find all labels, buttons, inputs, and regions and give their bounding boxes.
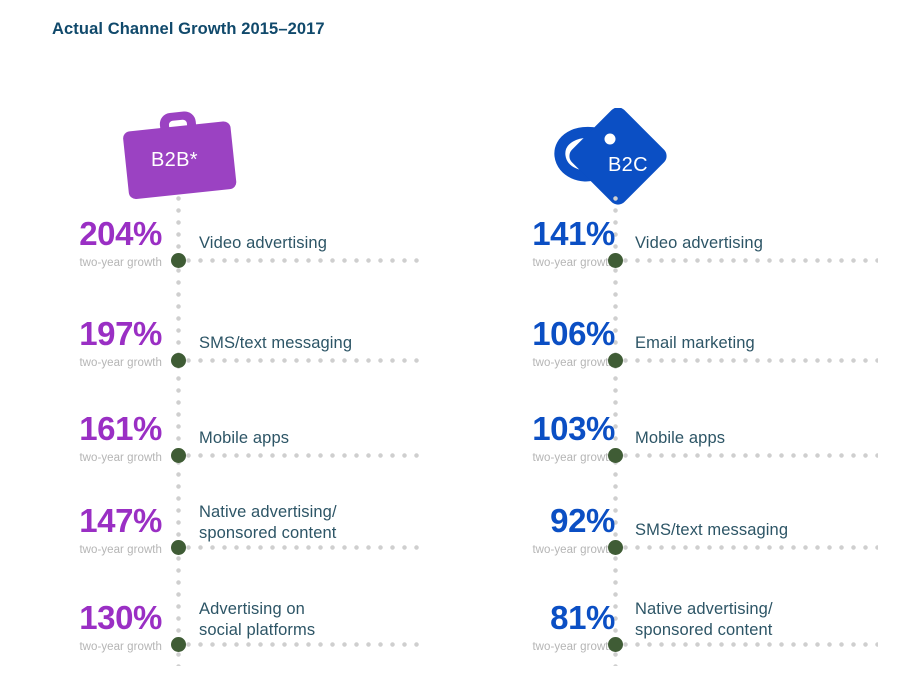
column-b2b: B2B* 204% two-year growth Video advertis… (0, 0, 430, 690)
b2c-channel-label-5: Native advertising/ sponsored content (635, 599, 773, 641)
b2b-channel-label-2: SMS/text messaging (199, 333, 352, 354)
b2b-percent-3: 161% (79, 412, 162, 445)
b2b-row-1: 204% two-year growth Video advertising (0, 210, 430, 270)
b2c-growth-note-1: two-year growth (532, 257, 615, 269)
b2c-percent-2: 106% (532, 317, 615, 350)
b2c-marker-dot-3 (608, 448, 623, 463)
b2c-row-2: 106% two-year growth Email marketing (430, 310, 900, 370)
b2b-channel-label-1: Video advertising (199, 233, 327, 254)
b2c-horizontal-dotted-line-5 (623, 642, 878, 647)
b2b-percent-1: 204% (79, 217, 162, 250)
b2c-percent-5: 81% (550, 601, 615, 634)
b2b-growth-note-1: two-year growth (79, 257, 162, 269)
b2b-row-5: 130% two-year growth Advertising on soci… (0, 594, 430, 654)
b2b-marker-dot-5 (171, 637, 186, 652)
b2c-marker-dot-4 (608, 540, 623, 555)
b2b-horizontal-dotted-line-1 (186, 258, 426, 263)
b2b-horizontal-dotted-line-2 (186, 358, 426, 363)
b2c-growth-note-4: two-year growth (532, 544, 615, 556)
b2c-row-4: 92% two-year growth SMS/text messaging (430, 497, 900, 557)
b2c-horizontal-dotted-line-1 (623, 258, 878, 263)
b2b-marker-dot-3 (171, 448, 186, 463)
b2b-horizontal-dotted-line-3 (186, 453, 426, 458)
b2c-marker-dot-1 (608, 253, 623, 268)
b2b-marker-dot-1 (171, 253, 186, 268)
b2c-growth-note-2: two-year growth (532, 357, 615, 369)
b2b-growth-note-2: two-year growth (79, 357, 162, 369)
b2b-percent-4: 147% (79, 504, 162, 537)
b2b-channel-label-5: Advertising on social platforms (199, 599, 315, 641)
b2b-row-2: 197% two-year growth SMS/text messaging (0, 310, 430, 370)
b2b-icon-header: B2B* (120, 108, 260, 208)
b2b-row-3: 161% two-year growth Mobile apps (0, 405, 430, 465)
b2c-horizontal-dotted-line-2 (623, 358, 878, 363)
b2b-marker-dot-4 (171, 540, 186, 555)
b2c-horizontal-dotted-line-4 (623, 545, 878, 550)
b2b-channel-label-4: Native advertising/ sponsored content (199, 502, 337, 544)
b2b-percent-2: 197% (79, 317, 162, 350)
b2b-growth-note-4: two-year growth (79, 544, 162, 556)
b2c-channel-label-4: SMS/text messaging (635, 520, 788, 541)
b2c-channel-label-2: Email marketing (635, 333, 755, 354)
briefcase-icon (120, 108, 260, 208)
b2b-growth-note-5: two-year growth (79, 641, 162, 653)
b2b-growth-note-3: two-year growth (79, 452, 162, 464)
b2c-growth-note-3: two-year growth (532, 452, 615, 464)
b2c-row-1: 141% two-year growth Video advertising (430, 210, 900, 270)
b2c-channel-label-3: Mobile apps (635, 428, 725, 449)
b2c-growth-note-5: two-year growth (532, 641, 615, 653)
b2c-percent-4: 92% (550, 504, 615, 537)
b2c-channel-label-1: Video advertising (635, 233, 763, 254)
b2b-horizontal-dotted-line-5 (186, 642, 426, 647)
b2c-icon-header: B2C (548, 108, 688, 208)
price-tag-icon (548, 108, 688, 208)
b2c-marker-dot-5 (608, 637, 623, 652)
b2c-row-5: 81% two-year growth Native advertising/ … (430, 594, 900, 654)
column-b2c: B2C 141% two-year growth Video advertisi… (430, 0, 860, 690)
b2b-horizontal-dotted-line-4 (186, 545, 426, 550)
b2b-channel-label-3: Mobile apps (199, 428, 289, 449)
b2c-percent-1: 141% (532, 217, 615, 250)
b2b-percent-5: 130% (79, 601, 162, 634)
b2b-marker-dot-2 (171, 353, 186, 368)
b2c-marker-dot-2 (608, 353, 623, 368)
b2c-percent-3: 103% (532, 412, 615, 445)
b2b-row-4: 147% two-year growth Native advertising/… (0, 497, 430, 557)
b2c-row-3: 103% two-year growth Mobile apps (430, 405, 900, 465)
b2c-horizontal-dotted-line-3 (623, 453, 878, 458)
